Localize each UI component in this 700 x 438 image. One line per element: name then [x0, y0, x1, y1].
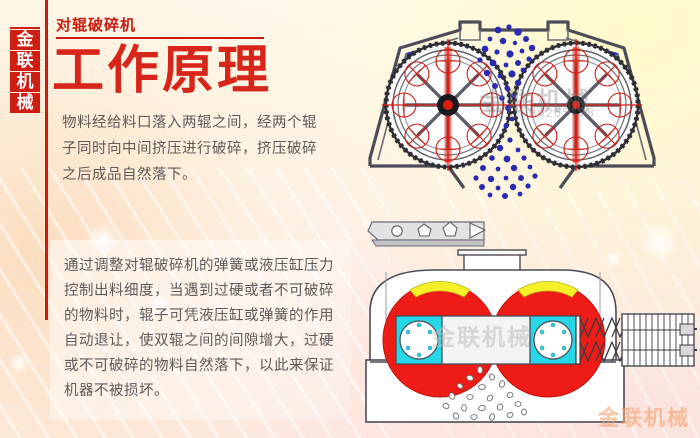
sub-title: 对辊破碎机 — [56, 14, 136, 35]
brand-logo-badge: 金 联 机 械 — [10, 30, 40, 113]
logo-char-3: 机 — [10, 72, 40, 92]
tension-frame — [622, 314, 697, 366]
bearing-hub-right — [534, 321, 572, 359]
footer-watermark: 金联机械 — [598, 402, 690, 432]
machine-watermark: 金联机械 — [432, 318, 532, 352]
diagram-watermark-phone: 0371-86265778 — [488, 106, 595, 120]
page-title: 工作原理 — [52, 42, 272, 100]
paragraph-principle: 物料经给料口落入两辊之间，经两个辊子同时向中间挤压进行破碎，挤压破碎之后成品自然… — [62, 110, 322, 188]
feed-chute — [368, 222, 485, 246]
logo-char-4: 械 — [10, 93, 40, 113]
vertical-red-divider — [45, 0, 48, 320]
poster-canvas: 金 联 机 械 对辊破碎机 工作原理 物料经给料口落入两辊之间，经两个辊子同时向… — [0, 0, 700, 438]
logo-char-2: 联 — [10, 51, 40, 71]
paragraph-adjustment: 通过调整对辊破碎机的弹簧或液压缸压力控制出料细度，当遇到过硬或者不可破碎的物料时… — [50, 240, 351, 420]
logo-char-1: 金 — [10, 30, 40, 50]
logo-rule-top — [10, 27, 40, 29]
title-underline — [56, 37, 264, 39]
glow-dot-5 — [8, 352, 30, 374]
